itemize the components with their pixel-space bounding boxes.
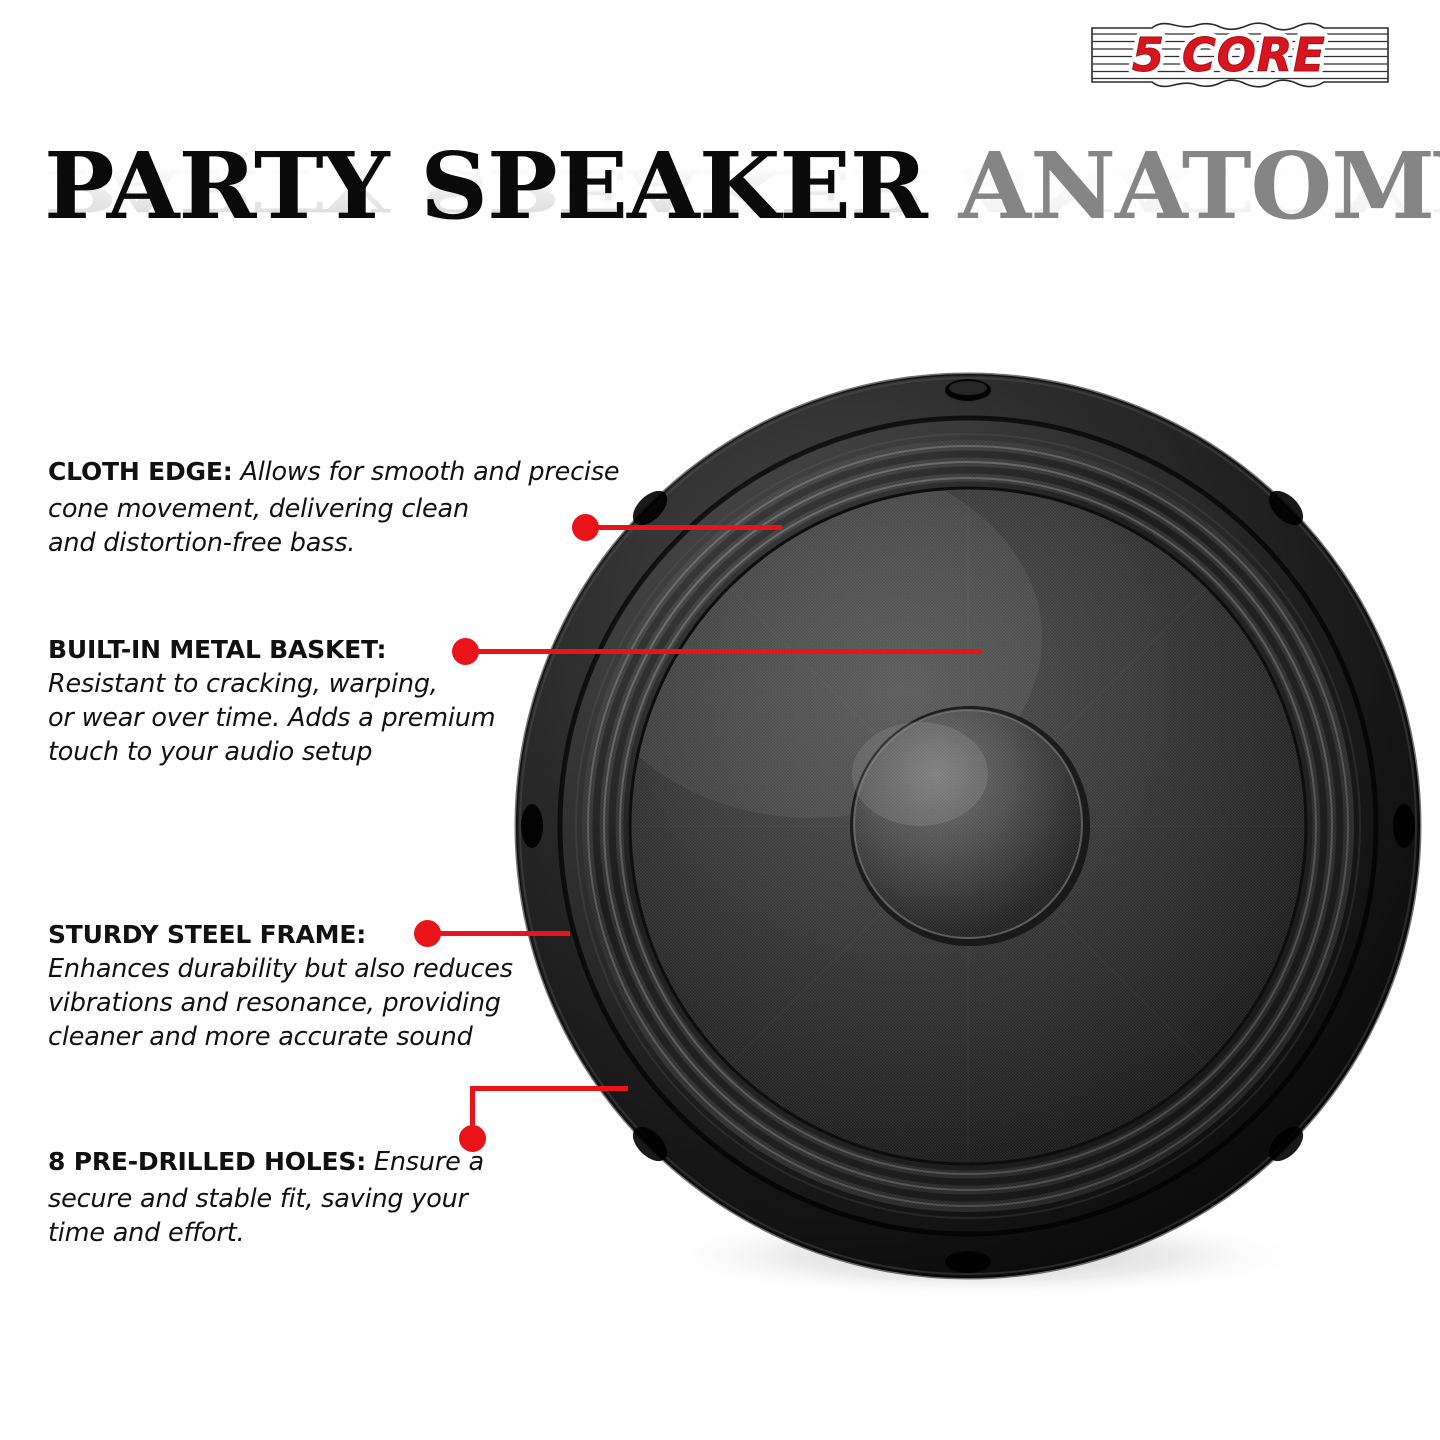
callout-holes-body-1: Ensure a	[374, 1147, 484, 1177]
callout-metal-basket-body-2: or wear over time. Adds a premium	[48, 701, 518, 735]
callout-holes-title: 8 PRE-DRILLED HOLES:	[48, 1147, 366, 1176]
callout-metal-basket-body-1: Resistant to cracking, warping,	[48, 667, 518, 701]
callout-steel-frame-body-1: Enhances durability but also reduces	[48, 952, 538, 986]
callout-cloth-edge: CLOTH EDGE: Allows for smooth and precis…	[48, 455, 658, 560]
callout-cloth-edge-body-1: Allows for smooth and precise	[240, 457, 619, 487]
mounting-hole	[945, 379, 991, 401]
callout-metal-basket-body-3: touch to your audio setup	[48, 735, 518, 769]
callout-steel-frame-body-2: vibrations and resonance, providing	[48, 986, 538, 1020]
page-title-text: PARTY SPEAKER ANATOMY	[44, 138, 1440, 234]
callout-steel-frame: STURDY STEEL FRAME: Enhances durability …	[48, 918, 538, 1054]
callout-cloth-edge-body-2: cone movement, delivering clean	[48, 492, 658, 526]
page-title-main: PARTY SPEAKER	[44, 132, 927, 240]
callout-holes-line-1: 8 PRE-DRILLED HOLES: Ensure a	[48, 1145, 508, 1182]
5-core-logo-icon: 5 CORE 5 CORE	[1090, 22, 1390, 90]
page-title-accent: ANATOMY	[959, 132, 1440, 240]
page-title: PARTY SPEAKER ANATOMY PARTY SPEAKER ANAT…	[44, 138, 1396, 298]
callout-cloth-edge-title: CLOTH EDGE:	[48, 457, 233, 486]
mounting-hole	[945, 1251, 991, 1273]
mounting-hole	[1393, 804, 1415, 848]
mounting-hole	[521, 804, 543, 848]
callout-metal-basket: BUILT-IN METAL BASKET: Resistant to crac…	[48, 633, 518, 769]
callout-metal-basket-title: BUILT-IN METAL BASKET:	[48, 633, 518, 667]
logo-text: 5 CORE	[1132, 28, 1326, 82]
leader-metal-basket	[452, 638, 982, 666]
brand-logo: 5 CORE 5 CORE	[1090, 22, 1390, 90]
leader-line-metal-basket	[470, 649, 982, 654]
callout-holes-body-3: time and effort.	[48, 1216, 508, 1250]
callout-cloth-edge-body-3: and distortion-free bass.	[48, 526, 658, 560]
callout-pre-drilled-holes: 8 PRE-DRILLED HOLES: Ensure a secure and…	[48, 1145, 508, 1250]
callout-cloth-edge-line-1: CLOTH EDGE: Allows for smooth and precis…	[48, 455, 658, 492]
callout-holes-body-2: secure and stable fit, saving your	[48, 1182, 508, 1216]
speaker-dust-cap	[850, 706, 1090, 946]
callout-steel-frame-body-3: cleaner and more accurate sound	[48, 1020, 538, 1054]
infographic-page: 5 CORE 5 CORE PARTY SPEAKER ANATOMY PART…	[0, 0, 1440, 1440]
callout-steel-frame-title: STURDY STEEL FRAME:	[48, 918, 538, 952]
leader-line-holes-horizontal	[470, 1086, 628, 1091]
